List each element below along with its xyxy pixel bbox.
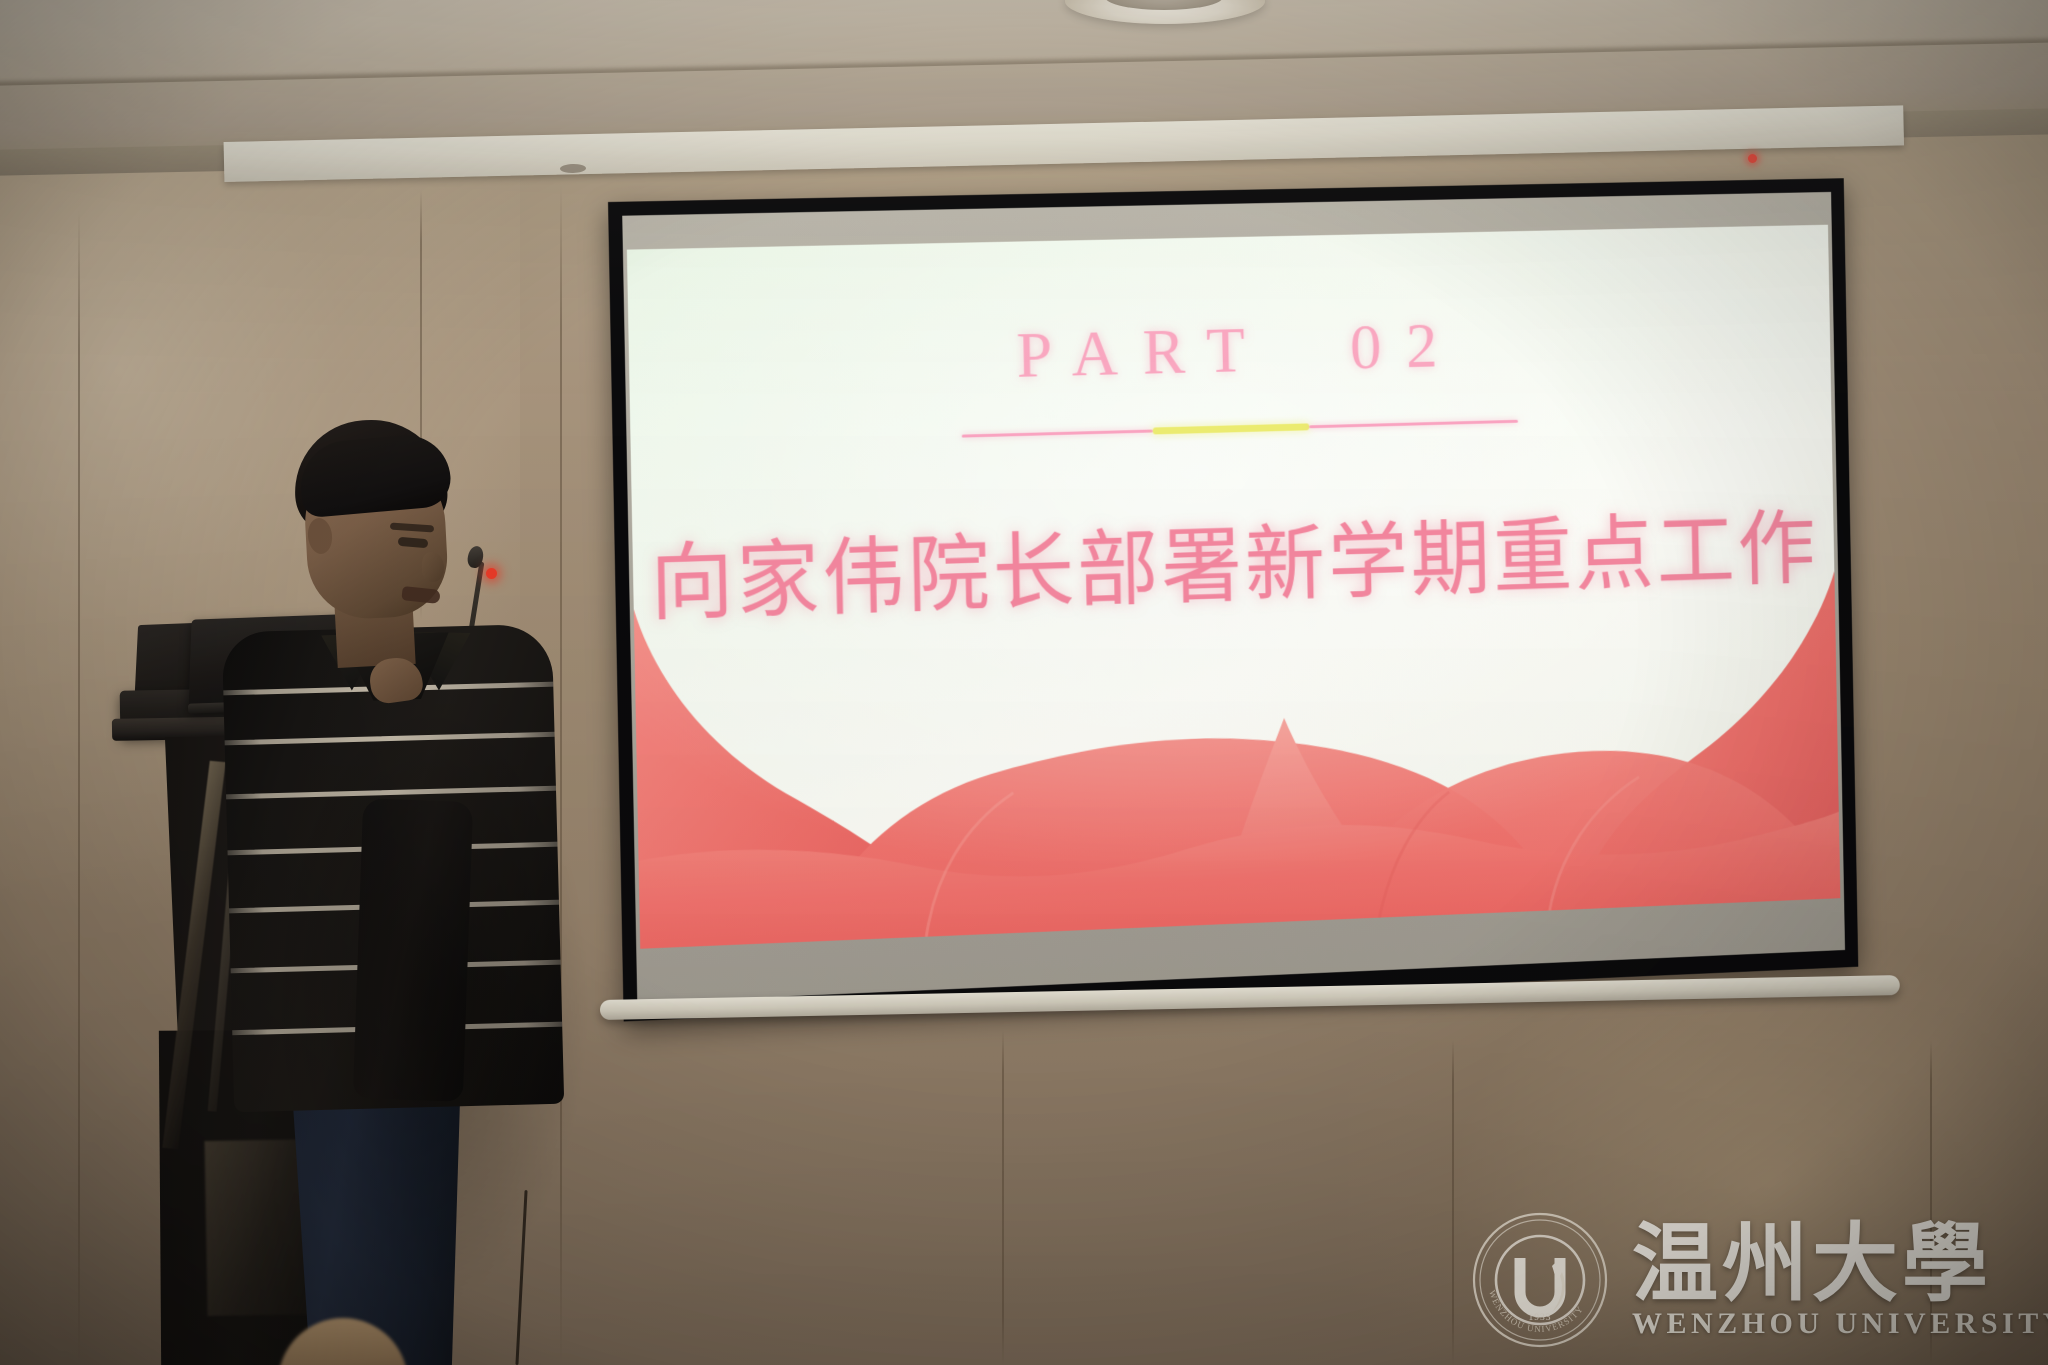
- divider-segment-yellow: [1153, 423, 1309, 434]
- university-name-en: WENZHOU UNIVERSITY: [1632, 1309, 2048, 1339]
- wenzhou-university-logo: 1933 温 州 大 學 WENZHOU UNIVERSITY 温州大學 WEN…: [1470, 1200, 2030, 1360]
- svg-text:1933: 1933: [1529, 1313, 1552, 1323]
- presenter-nose: [422, 552, 444, 582]
- emblem-svg: 1933 温 州 大 學 WENZHOU UNIVERSITY: [1470, 1210, 1610, 1350]
- slide-part-label: PART 02: [628, 300, 1830, 404]
- presenter: [250, 420, 580, 1365]
- divider-segment-pink-left: [962, 429, 1153, 437]
- wall-panel-seam: [1452, 1040, 1454, 1365]
- wenzhou-university-wordmark: 温州大學 WENZHOU UNIVERSITY: [1632, 1221, 2048, 1339]
- shirt-stripe: [222, 731, 564, 746]
- shirt-stripe: [222, 785, 564, 800]
- wenzhou-university-emblem-icon: 1933 温 州 大 學 WENZHOU UNIVERSITY: [1470, 1210, 1610, 1350]
- presentation-room-photo: PART 02 向家伟院长部署新学期重点工作: [0, 0, 2048, 1365]
- status-led-indicator: [1748, 154, 1757, 163]
- wall-panel-seam: [78, 210, 80, 1365]
- divider-segment-pink-right: [1309, 419, 1518, 428]
- presenter-arm: [353, 798, 473, 1102]
- projection-screen: PART 02 向家伟院长部署新学期重点工作: [608, 178, 1858, 1021]
- wall-panel-seam: [1002, 1030, 1004, 1365]
- university-name-cn: 温州大學: [1632, 1221, 2048, 1307]
- slide-divider: [962, 416, 1518, 441]
- projected-slide: PART 02 向家伟院长部署新学期重点工作: [627, 225, 1841, 949]
